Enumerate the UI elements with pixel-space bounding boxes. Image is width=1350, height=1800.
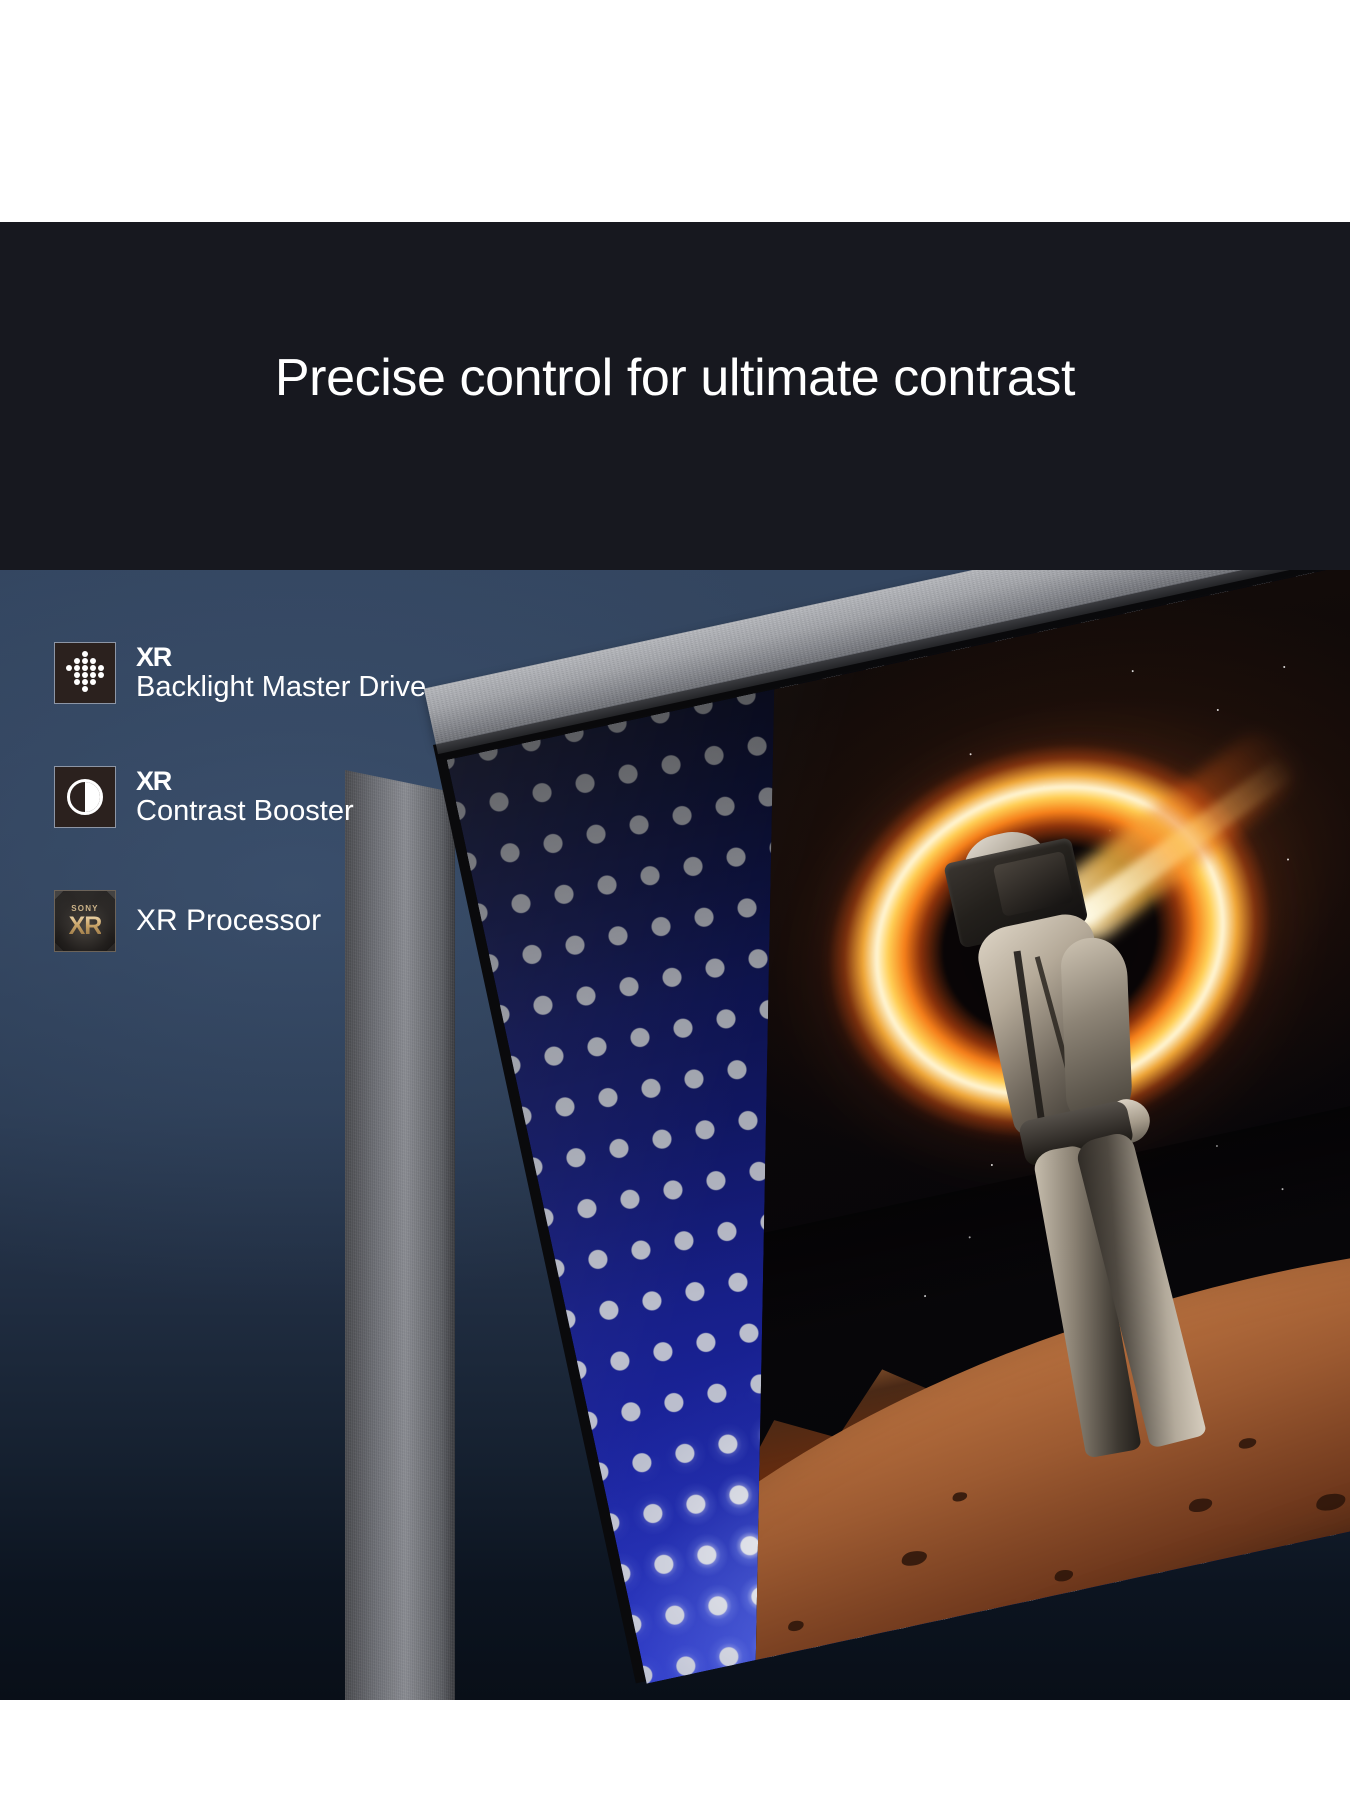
xr-backlight-dots-icon: [54, 642, 116, 704]
astronaut-arm: [1060, 937, 1133, 1121]
feature-item-xr-processor[interactable]: SONY XR XR Processor: [54, 890, 574, 952]
feature-list: XR Backlight Master Drive XR Contrast Bo…: [54, 642, 574, 1014]
feature-item-contrast-booster[interactable]: XR Contrast Booster: [54, 766, 574, 828]
feature-label: Backlight Master Drive: [136, 671, 426, 703]
feature-item-backlight-master-drive[interactable]: XR Backlight Master Drive: [54, 642, 574, 704]
xr-contrast-circle-icon: [54, 766, 116, 828]
feature-text: XR Processor: [136, 904, 321, 938]
contrast-circle: [67, 779, 103, 815]
xr-brand-mark: XR: [136, 767, 354, 795]
feature-text: XR Backlight Master Drive: [136, 643, 426, 704]
dot-grid: [63, 651, 107, 695]
bottom-white-margin: [0, 1700, 1350, 1800]
xr-brand-mark: XR: [136, 643, 426, 671]
sony-xr-processor-badge-icon: SONY XR: [54, 890, 116, 952]
xr-gold-mark: XR: [69, 914, 102, 939]
feature-text: XR Contrast Booster: [136, 767, 354, 828]
feature-label: XR Processor: [136, 904, 321, 938]
product-feature-banner: Precise control for ultimate contrast: [0, 0, 1350, 1800]
page-title: Precise control for ultimate contrast: [0, 350, 1350, 407]
feature-label: Contrast Booster: [136, 795, 354, 827]
tv-screen: [447, 570, 1350, 1684]
top-white-margin: [0, 0, 1350, 222]
hero-panel: XR Backlight Master Drive XR Contrast Bo…: [0, 570, 1350, 1700]
headline-band: Precise control for ultimate contrast: [0, 222, 1350, 570]
